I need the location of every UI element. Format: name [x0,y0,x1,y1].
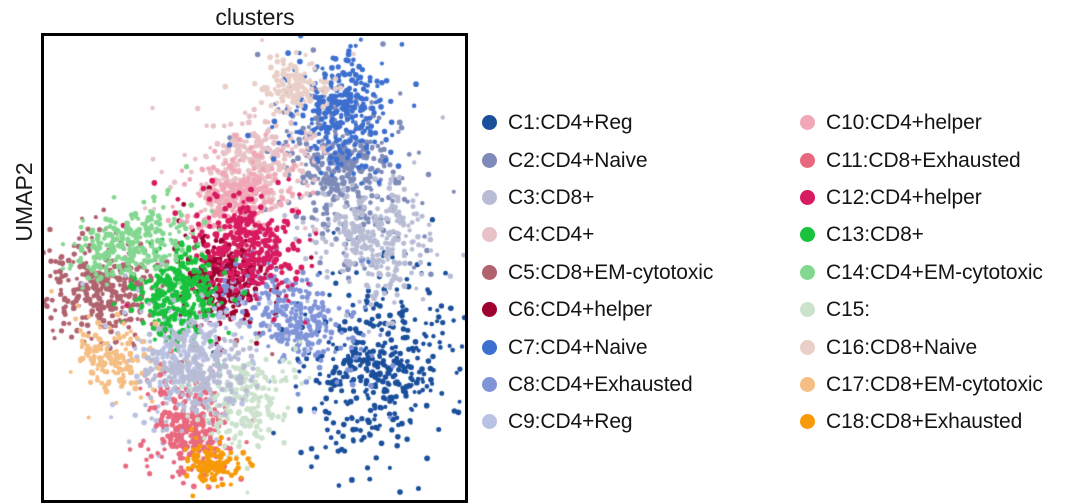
legend-item[interactable]: C18:CD8+Exhausted [800,403,1080,440]
legend-item-label: C12:CD4+helper [826,186,982,209]
legend-item-label: C6:CD4+helper [508,298,652,321]
legend-item[interactable]: C1:CD4+Reg [482,104,812,141]
legend-swatch-icon [800,377,815,392]
legend-swatch-icon [482,414,497,429]
plot-frame [41,33,468,503]
legend-swatch-icon [482,265,497,280]
legend-swatch-icon [800,115,815,130]
legend-swatch-icon [482,153,497,168]
legend-swatch-icon [482,227,497,242]
legend-item[interactable]: C10:CD4+helper [800,104,1080,141]
legend-item[interactable]: C9:CD4+Reg [482,403,812,440]
umap-cluster-plot: clusters UMAP2 C1:CD4+RegC2:CD4+NaiveC3:… [0,0,1080,491]
legend-item-label: C2:CD4+Naive [508,149,647,172]
legend-item-label: C17:CD8+EM-cytotoxic [826,373,1043,396]
legend-swatch-icon [800,190,815,205]
legend-item-label: C11:CD8+Exhausted [826,149,1021,172]
y-axis-label: UMAP2 [12,142,36,262]
legend-item-label: C9:CD4+Reg [508,410,632,433]
legend-item-label: C3:CD8+ [508,186,594,209]
legend-item-label: C10:CD4+helper [826,111,982,134]
legend-swatch-icon [800,265,815,280]
legend-swatch-icon [482,377,497,392]
legend-item-label: C5:CD8+EM-cytotoxic [508,261,713,284]
legend-item[interactable]: C6:CD4+helper [482,291,812,328]
legend-item[interactable]: C13:CD8+ [800,216,1080,253]
page-title: clusters [41,4,469,30]
legend-item[interactable]: C5:CD8+EM-cytotoxic [482,254,812,291]
legend-column-left: C1:CD4+RegC2:CD4+NaiveC3:CD8+C4:CD4+C5:C… [482,104,812,441]
legend-item-label: C1:CD4+Reg [508,111,632,134]
legend-item[interactable]: C8:CD4+Exhausted [482,366,812,403]
legend-item[interactable]: C2:CD4+Naive [482,141,812,178]
legend-item-label: C13:CD8+ [826,223,924,246]
legend: C1:CD4+RegC2:CD4+NaiveC3:CD8+C4:CD4+C5:C… [482,104,1080,434]
legend-item[interactable]: C3:CD8+ [482,179,812,216]
legend-swatch-icon [800,153,815,168]
legend-item[interactable]: C12:CD4+helper [800,179,1080,216]
legend-swatch-icon [482,340,497,355]
legend-item-label: C7:CD4+Naive [508,336,647,359]
legend-item[interactable]: C15: [800,291,1080,328]
legend-item[interactable]: C11:CD8+Exhausted [800,141,1080,178]
legend-swatch-icon [482,302,497,317]
legend-swatch-icon [800,302,815,317]
legend-item[interactable]: C17:CD8+EM-cytotoxic [800,366,1080,403]
legend-swatch-icon [800,414,815,429]
scatter-plot-canvas [44,36,465,500]
legend-item-label: C16:CD8+Naive [826,336,977,359]
legend-item[interactable]: C14:CD4+EM-cytotoxic [800,254,1080,291]
legend-swatch-icon [482,115,497,130]
legend-swatch-icon [482,190,497,205]
legend-item-label: C4:CD4+ [508,223,594,246]
legend-column-right: C10:CD4+helperC11:CD8+ExhaustedC12:CD4+h… [800,104,1080,441]
legend-item[interactable]: C16:CD8+Naive [800,328,1080,365]
legend-item-label: C18:CD8+Exhausted [826,410,1022,433]
legend-item[interactable]: C4:CD4+ [482,216,812,253]
legend-item[interactable]: C7:CD4+Naive [482,328,812,365]
legend-swatch-icon [800,340,815,355]
legend-swatch-icon [800,227,815,242]
legend-item-label: C15: [826,298,870,321]
legend-item-label: C8:CD4+Exhausted [508,373,693,396]
legend-item-label: C14:CD4+EM-cytotoxic [826,261,1043,284]
